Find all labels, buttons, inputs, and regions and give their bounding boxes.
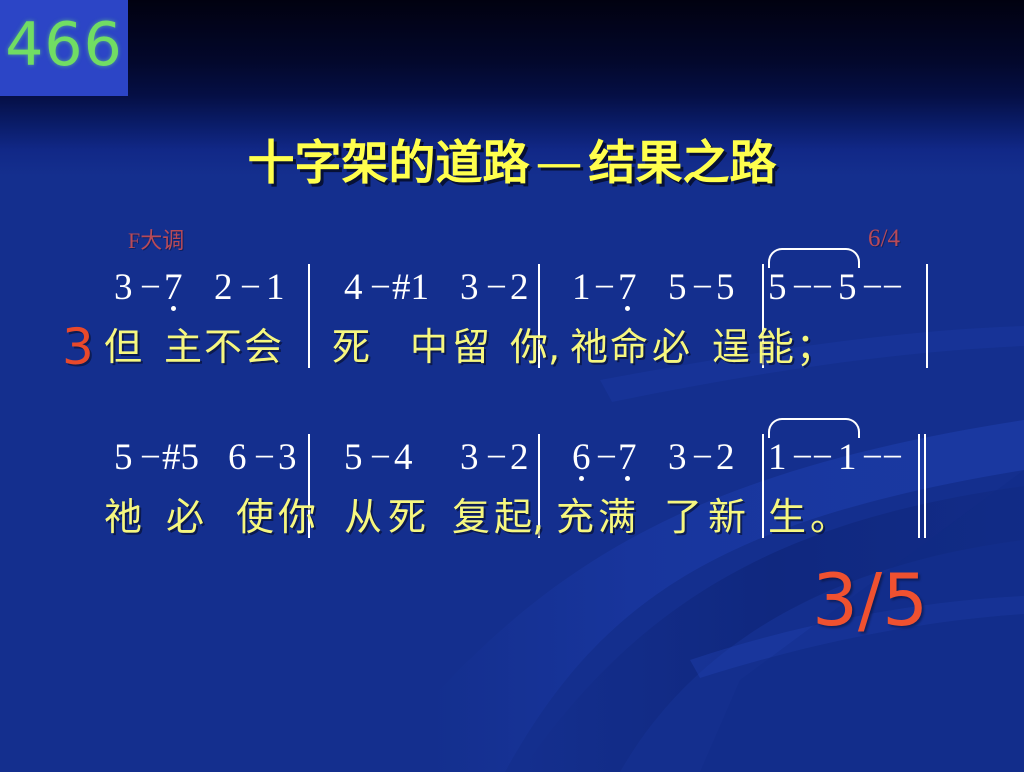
title-subtitle: 结果之路 — [589, 136, 777, 191]
note-dash: − — [140, 262, 161, 314]
lyric-character: 留 — [452, 318, 490, 376]
title-dash: — — [530, 136, 589, 191]
song-number-badge: 466 — [0, 0, 128, 96]
note-number: #5 — [162, 432, 199, 484]
note-number: 2 — [510, 262, 529, 314]
note-dash: − — [370, 262, 391, 314]
note-number: #1 — [392, 262, 429, 314]
note-number: 3 — [668, 432, 687, 484]
note-dash: − — [862, 432, 883, 484]
note-number: 5 — [838, 262, 857, 314]
note-number: 2 — [510, 432, 529, 484]
lyric-character: 不 — [204, 318, 242, 376]
lyric-character: 能 — [756, 318, 794, 376]
note-dash: − — [596, 432, 617, 484]
note-number: 2 — [716, 432, 735, 484]
verse-number: 3 — [62, 318, 94, 376]
notation-row: 5−#56−35−43−26−73−21−−1−− — [0, 432, 1024, 488]
lyric-character: 。 — [810, 488, 848, 546]
title-main: 十字架的道路 — [248, 136, 530, 191]
note-number: 3 — [114, 262, 133, 314]
note-number: 7 — [164, 262, 183, 314]
note-number: 1 — [838, 432, 857, 484]
note-dash: − — [862, 262, 883, 314]
lyric-character: 逞 — [712, 318, 750, 376]
note-number: 7 — [618, 262, 637, 314]
lyric-character: 必 — [166, 488, 204, 546]
note-number: 5 — [716, 262, 735, 314]
song-slide: 466 十字架的道路—结果之路 F大调 6/4 3−72−14−#13−21−7… — [0, 0, 1024, 772]
lyrics-row: 3但主不会死中留你,祂命必逞能； — [0, 318, 1024, 380]
music-system-2: 5−#56−35−43−26−73−21−−1−− 祂必使你从死复起,充满了新生… — [0, 432, 1024, 550]
note-number: 2 — [214, 262, 233, 314]
note-dash: − — [594, 262, 615, 314]
lyric-character: 新 — [708, 488, 746, 546]
page-title: 十字架的道路—结果之路 — [0, 136, 1024, 192]
lyrics-row: 祂必使你从死复起,充满了新生。 — [0, 488, 1024, 550]
lyric-character: 命 — [610, 318, 648, 376]
notation-row: 3−72−14−#13−21−75−55−−5−− — [0, 262, 1024, 318]
lyric-character: 满 — [598, 488, 636, 546]
lyric-character: 复 — [452, 488, 490, 546]
note-dash: − — [792, 262, 813, 314]
lyric-character: 了 — [664, 488, 702, 546]
note-dash: − — [140, 432, 161, 484]
note-dash: − — [486, 432, 507, 484]
lyric-character: 你 — [278, 488, 316, 546]
lyric-character: 必 — [652, 318, 690, 376]
note-dash: − — [812, 432, 833, 484]
lyric-character: 充 — [556, 488, 594, 546]
lyric-character: ； — [796, 318, 834, 376]
note-number: 5 — [768, 262, 787, 314]
note-dash: − — [812, 262, 833, 314]
note-number: 4 — [394, 432, 413, 484]
note-dash: − — [882, 262, 903, 314]
note-dash: − — [792, 432, 813, 484]
note-number: 6 — [572, 432, 591, 484]
note-dash: − — [692, 432, 713, 484]
time-signature: 6/4 — [868, 226, 900, 252]
lyric-character: 使 — [236, 488, 274, 546]
note-dash: − — [882, 432, 903, 484]
note-number: 6 — [228, 432, 247, 484]
lyric-character: 从 — [344, 488, 382, 546]
lyric-character: 你, — [510, 318, 560, 376]
song-number: 466 — [0, 6, 128, 84]
lyric-character: 但 — [104, 318, 142, 376]
page-counter: 3/5 — [812, 560, 928, 640]
note-number: 3 — [460, 262, 479, 314]
lyric-character: 主 — [164, 318, 202, 376]
note-number: 1 — [768, 432, 787, 484]
note-dash: − — [254, 432, 275, 484]
lyric-character: 死 — [388, 488, 426, 546]
lyric-character: 会 — [244, 318, 282, 376]
note-number: 5 — [344, 432, 363, 484]
note-dash: − — [486, 262, 507, 314]
lyric-character: 祂 — [570, 318, 608, 376]
note-dash: − — [240, 262, 261, 314]
lyric-character: 祂 — [104, 488, 142, 546]
lyric-character: 生 — [768, 488, 806, 546]
note-number: 1 — [266, 262, 285, 314]
key-signature: F大调 — [128, 228, 184, 254]
note-number: 3 — [278, 432, 297, 484]
note-number: 4 — [344, 262, 363, 314]
note-number: 1 — [572, 262, 591, 314]
lyric-character: 死 — [332, 318, 370, 376]
note-number: 3 — [460, 432, 479, 484]
note-number: 7 — [618, 432, 637, 484]
note-dash: − — [370, 432, 391, 484]
music-system-1: 3−72−14−#13−21−75−55−−5−− 3但主不会死中留你,祂命必逞… — [0, 262, 1024, 380]
note-number: 5 — [114, 432, 133, 484]
lyric-character: 中 — [410, 318, 448, 376]
lyric-character: 起, — [494, 488, 544, 546]
background-swoosh-decoration — [0, 0, 1024, 772]
note-number: 5 — [668, 262, 687, 314]
note-dash: − — [692, 262, 713, 314]
